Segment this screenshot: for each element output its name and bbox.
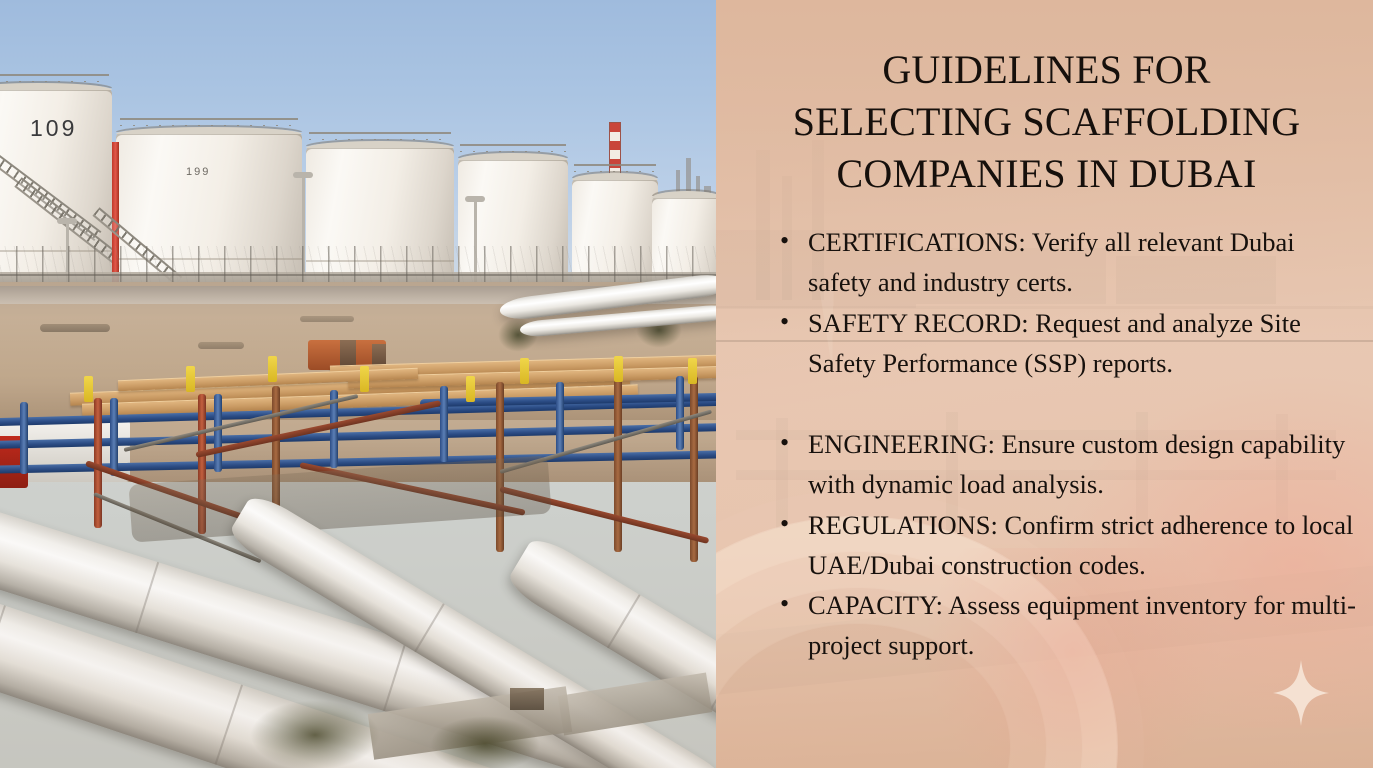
tank-label-109: 109 (30, 115, 77, 142)
panel-content: GUIDELINES FOR SELECTING SCAFFOLDING COM… (716, 0, 1373, 768)
slide: 109 199 (0, 0, 1373, 768)
scaffold-post (556, 382, 564, 456)
scaffold-jack-cap (688, 358, 697, 384)
scaffold-jack-cap (84, 376, 93, 402)
list-item: REGULATIONS: Confirm strict adherence to… (780, 505, 1359, 586)
scaffold-post (440, 386, 448, 462)
list-item: CERTIFICATIONS: Verify all relevant Duba… (780, 222, 1359, 303)
scaffold-post (676, 376, 684, 450)
list-item: SAFETY RECORD: Request and analyze Site … (780, 303, 1359, 384)
grass-tuft (430, 716, 540, 768)
scaffold-jack-cap (466, 376, 475, 402)
ground-debris (198, 342, 244, 349)
scaffold-post (110, 398, 118, 476)
scaffold-jack-cap (614, 356, 623, 382)
scaffold-jack-cap (268, 356, 277, 382)
scaffold-jack-cap (520, 358, 529, 384)
grass-tuft (250, 700, 380, 768)
list-item: CAPACITY: Assess equipment inventory for… (780, 585, 1359, 666)
scaffold-post (614, 378, 622, 552)
four-point-sparkle-icon (1273, 660, 1329, 726)
title-line-2: SELECTING SCAFFOLDING (793, 99, 1301, 144)
industrial-site-photo: 109 199 (0, 0, 716, 768)
content-panel: GUIDELINES FOR SELECTING SCAFFOLDING COM… (716, 0, 1373, 768)
list-item: ENGINEERING: Ensure custom design capabi… (780, 424, 1359, 505)
ground-debris (40, 324, 110, 332)
scaffold-post (214, 394, 222, 472)
title-line-1: GUIDELINES FOR (882, 47, 1210, 92)
tank-label-199: 199 (186, 166, 210, 178)
ground-debris (300, 316, 354, 322)
scaffold-jack-cap (360, 366, 369, 392)
scaffold-post (20, 402, 28, 474)
title-line-3: COMPANIES IN DUBAI (837, 151, 1257, 196)
scaffold-jack-cap (186, 366, 195, 392)
page-title: GUIDELINES FOR SELECTING SCAFFOLDING COM… (716, 0, 1373, 200)
pipe-saddle (510, 688, 544, 710)
guidelines-list: CERTIFICATIONS: Verify all relevant Duba… (716, 200, 1373, 666)
